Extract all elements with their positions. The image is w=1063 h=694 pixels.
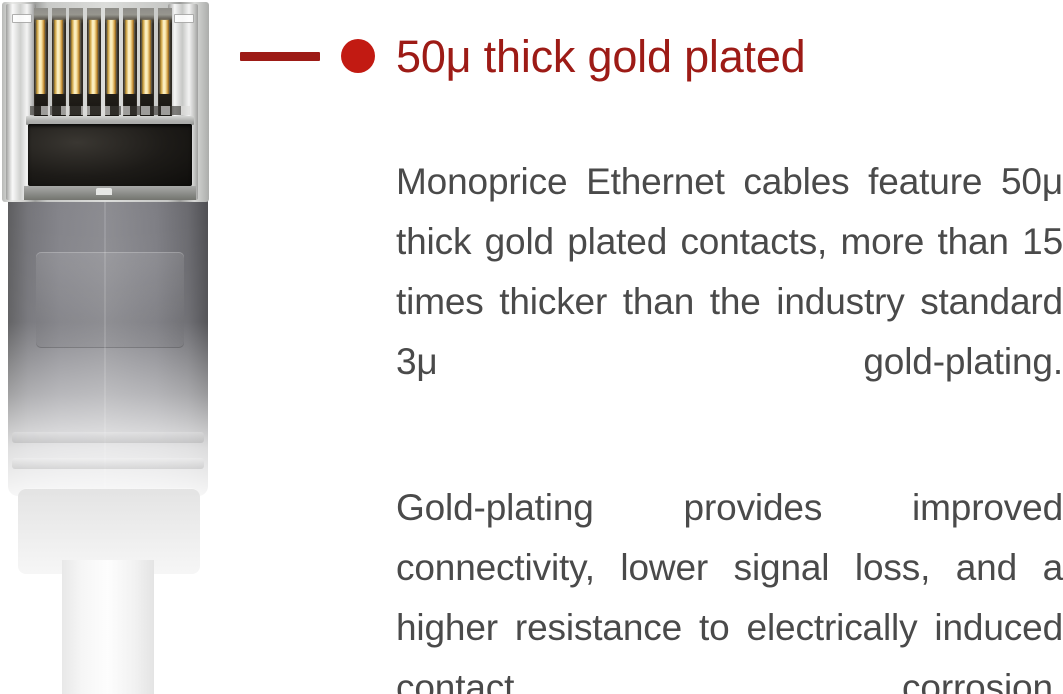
- description-paragraph: Monoprice Ethernet cables feature 50μ th…: [396, 152, 1063, 452]
- cable-stem: [62, 560, 154, 694]
- pin-gold-surface: [54, 20, 63, 94]
- boot-seam: [104, 200, 106, 490]
- pin-gold-surface: [107, 20, 116, 94]
- contact-pin: [158, 8, 172, 120]
- contact-pin: [105, 8, 119, 120]
- boot-rib: [12, 458, 204, 469]
- leader-line-icon: [240, 52, 320, 61]
- pin-label-strip: [30, 106, 190, 115]
- contact-pin: [52, 8, 66, 120]
- housing-left-notch: [12, 14, 32, 23]
- pin-gold-surface: [160, 20, 169, 94]
- cavity-center-tab: [96, 188, 112, 195]
- contact-pin: [140, 8, 154, 120]
- pin-gold-surface: [142, 20, 151, 94]
- rj45-connector-photo: [0, 0, 232, 694]
- pin-gold-surface: [71, 20, 80, 94]
- connector-cavity: [28, 124, 192, 186]
- contact-pin: [123, 8, 137, 120]
- product-feature-panel: 50μ thick gold plated Monoprice Ethernet…: [0, 0, 1063, 694]
- boot-inset-panel: [36, 252, 184, 348]
- contact-pin: [87, 8, 101, 120]
- pin-gold-surface: [89, 20, 98, 94]
- pin-gold-surface: [36, 20, 45, 94]
- housing-right-notch: [174, 14, 194, 23]
- callout-headline-row: 50μ thick gold plated: [240, 20, 1063, 92]
- description-paragraph: Gold-plating provides improved connectiv…: [396, 478, 1063, 694]
- callout-headline: 50μ thick gold plated: [396, 34, 806, 79]
- leader-dot-icon: [341, 39, 375, 73]
- contact-pin: [69, 8, 83, 120]
- pin-gold-surface: [125, 20, 134, 94]
- boot-rib: [12, 432, 204, 443]
- feature-description: Monoprice Ethernet cables feature 50μ th…: [396, 152, 1063, 694]
- gold-contact-pins: [34, 8, 172, 120]
- feature-text-content: 50μ thick gold plated Monoprice Ethernet…: [240, 0, 1063, 694]
- contact-pin: [34, 8, 48, 120]
